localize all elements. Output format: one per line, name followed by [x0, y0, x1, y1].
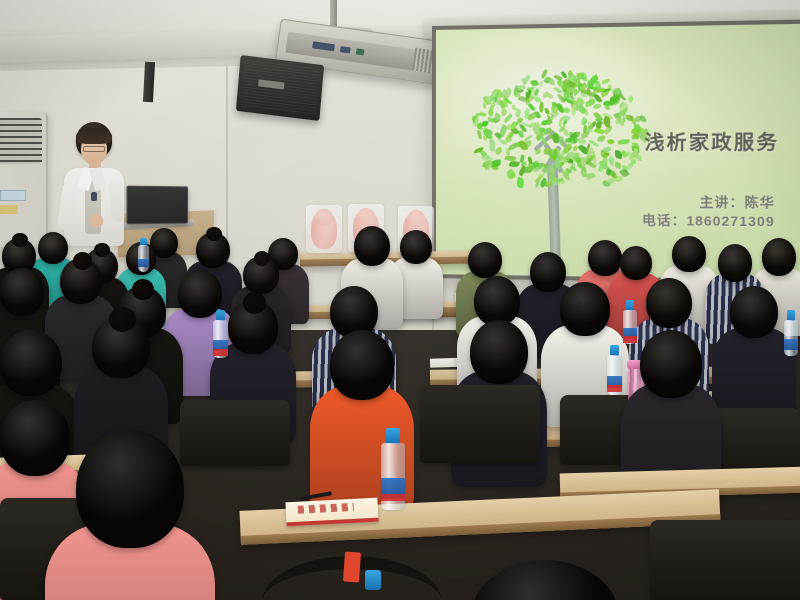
- slide-presenter-line: 主讲：陈华: [699, 191, 774, 211]
- hair-bun: [243, 292, 266, 314]
- bottle-body: [784, 320, 798, 356]
- tree-graphic-icon: [462, 61, 657, 267]
- audience-head: [470, 320, 528, 384]
- audience-head: [76, 430, 184, 548]
- tree-leaf: [607, 138, 615, 145]
- presenter: [58, 122, 128, 267]
- course-booklet: [285, 498, 378, 527]
- bottle-cap: [386, 428, 399, 444]
- bottle-label: [784, 339, 798, 350]
- bottle-label: [138, 259, 149, 267]
- hair-bun: [132, 279, 154, 300]
- baby-doll-prop: [306, 205, 342, 253]
- booklet-title-mark: [298, 503, 354, 514]
- audience-head: [354, 226, 390, 266]
- black-chair: [650, 520, 800, 600]
- hair-bun: [73, 252, 92, 270]
- tree-leaf: [514, 85, 525, 91]
- tree-leaf: [572, 146, 578, 152]
- tree-leaf: [530, 80, 538, 87]
- tree-leaf: [514, 109, 521, 118]
- tree-leaf: [539, 102, 544, 112]
- doll-packaging: [306, 205, 342, 253]
- bottle-body: [607, 355, 622, 395]
- classroom-photo: 浅析家政服务 主讲：陈华 电话：1860271309: [0, 0, 800, 600]
- ac-badge-secondary: [0, 205, 18, 214]
- tree-leaf: [477, 130, 482, 139]
- tree-leaf: [603, 116, 611, 127]
- ac-vent-icon: [0, 118, 42, 164]
- hair-bun: [109, 307, 136, 332]
- projector-port-lan: [356, 48, 365, 55]
- audience-head: [588, 240, 622, 276]
- tree-leaf: [581, 72, 587, 81]
- tree-leaf: [580, 156, 586, 166]
- audience-head: [38, 232, 68, 264]
- bottle-label-stripe: [381, 494, 405, 501]
- slide-phone-line: 电话：1860271309: [642, 210, 775, 231]
- audience-head: [330, 330, 394, 400]
- tree-leaf: [601, 78, 609, 83]
- bottle-cap: [365, 570, 382, 590]
- hair-bun: [254, 251, 271, 266]
- audience-head: [640, 330, 702, 398]
- bottle-body: [623, 310, 637, 344]
- tree-leaf: [597, 135, 605, 142]
- water-bottle: [213, 310, 228, 358]
- tree-leaf: [614, 162, 622, 169]
- water-bottle: [138, 238, 149, 272]
- audience-head: [468, 242, 502, 278]
- tree-leaf: [619, 140, 630, 145]
- audience-head: [672, 236, 706, 272]
- bottle-body: [213, 320, 228, 358]
- air-conditioner: [0, 112, 48, 247]
- water-bottle: [623, 300, 637, 344]
- audience-head: [762, 238, 796, 276]
- speaker-bracket: [143, 62, 155, 102]
- hair-bun: [94, 243, 110, 257]
- bottle-label-stripe: [607, 385, 622, 392]
- tree-leaf: [636, 154, 642, 160]
- bottle-body: [381, 443, 405, 510]
- audience-head: [400, 230, 432, 264]
- black-chair: [180, 400, 290, 466]
- tree-leaf: [533, 126, 539, 134]
- audience-head: [474, 276, 520, 326]
- tree-leaf: [516, 177, 525, 188]
- audience-head: [0, 268, 44, 316]
- projection-screen: 浅析家政服务 主讲：陈华 电话：1860271309: [436, 24, 800, 281]
- tree-leaf: [611, 171, 617, 177]
- slide-title: 浅析家政服务: [644, 127, 779, 155]
- water-bottle: [358, 570, 388, 600]
- tree-leaf: [494, 147, 503, 155]
- tree-leaf: [627, 95, 635, 103]
- audience-head: [718, 244, 752, 282]
- water-bottle: [607, 345, 622, 395]
- audience-head: [0, 330, 62, 396]
- tree-leaf: [626, 115, 632, 122]
- audience-head: [646, 278, 692, 328]
- tree-leaf: [481, 120, 488, 127]
- wall-speaker: [236, 55, 324, 121]
- ac-badge: [0, 190, 26, 201]
- presenter-fringe: [76, 128, 112, 144]
- tree-leaf: [552, 134, 558, 143]
- bottle-body: [138, 245, 149, 272]
- presenter-laptop: [127, 186, 189, 225]
- tree-leaf: [593, 127, 605, 136]
- audience-head: [560, 282, 610, 336]
- audience-head: [730, 286, 778, 338]
- audience-head: [620, 246, 652, 280]
- pendant-icon: [91, 192, 97, 201]
- tree-leaf: [538, 81, 543, 87]
- bottle-label-stripe: [623, 336, 637, 343]
- water-bottle: [381, 428, 405, 510]
- tree-leaf: [481, 99, 487, 109]
- bottle-label-stripe: [213, 349, 228, 356]
- tree-leaf: [580, 166, 588, 177]
- audience-head: [470, 560, 620, 600]
- tree-leaf: [475, 112, 481, 117]
- projector-port-hdmi: [340, 46, 351, 53]
- audience-head: [530, 252, 566, 292]
- glasses-icon: [83, 146, 105, 152]
- audience-head: [0, 400, 70, 476]
- hair-bun: [12, 233, 28, 247]
- black-chair: [420, 385, 540, 463]
- water-bottle: [784, 310, 798, 356]
- hair-bun: [206, 227, 222, 241]
